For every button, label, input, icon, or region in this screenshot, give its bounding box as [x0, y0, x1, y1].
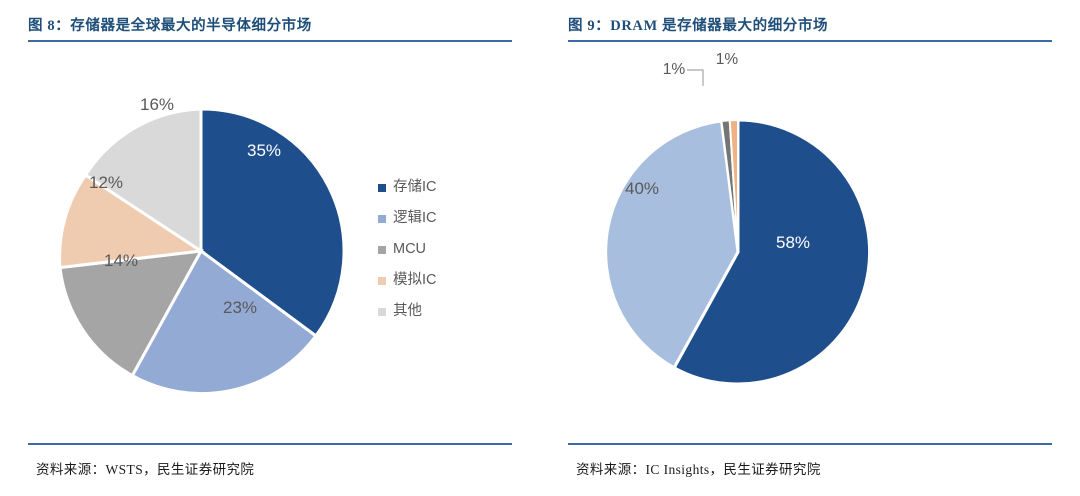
pie-label-1: 40%: [625, 179, 659, 198]
legend-item-luoji-ic[interactable]: 逻辑IC: [378, 203, 437, 234]
legend-label: 逻辑IC: [393, 211, 437, 226]
legend-swatch-icon: [378, 308, 386, 316]
legend-label: 其他: [393, 304, 422, 319]
legend-label: 存储IC: [393, 180, 437, 195]
figure-8-header: 图 8：存储器是全球最大的半导体细分市场: [28, 14, 512, 42]
leader-line-nor-flash: [687, 70, 703, 86]
figure-9-title: 图 9：DRAM 是存储器最大的细分市场: [568, 14, 1052, 40]
pie-label-4: 16%: [140, 95, 174, 114]
figure-9-title-rule: [568, 40, 1052, 42]
pie-label-2: 1%: [663, 61, 686, 78]
figure-8-title-rule: [28, 40, 512, 42]
figure-8-footer: 资料来源：WSTS，民生证券研究院: [28, 443, 512, 478]
legend-label: MCU: [393, 242, 426, 257]
legend-item-mcu[interactable]: MCU: [378, 234, 437, 265]
pie-label-0: 35%: [247, 141, 281, 160]
legend-label: 模拟IC: [393, 273, 437, 288]
figure-8-panel: 图 8：存储器是全球最大的半导体细分市场: [0, 0, 540, 496]
legend-item-cunchu-ic[interactable]: 存储IC: [378, 172, 437, 203]
pie-label-3: 1%: [716, 51, 739, 68]
legend-swatch-icon: [378, 246, 386, 254]
pie-slices-figure-9: [606, 120, 870, 384]
pie-label-0: 58%: [776, 233, 810, 252]
pie-label-1: 23%: [223, 298, 257, 317]
figure-9-source: 资料来源：IC Insights，民生证券研究院: [568, 458, 1052, 478]
legend-swatch-icon: [378, 184, 386, 192]
figure-8-legend: 存储IC 逻辑IC MCU 模拟IC 其他: [378, 172, 437, 327]
figure-9-footer-rule: [568, 443, 1052, 445]
pie-label-3: 12%: [89, 173, 123, 192]
pie-leader-lines-figure-9: [687, 70, 703, 86]
figure-8-title: 图 8：存储器是全球最大的半导体细分市场: [28, 14, 512, 40]
figure-8-pie-chart: 35% 23% 14% 12% 16%: [0, 48, 540, 428]
legend-swatch-icon: [378, 277, 386, 285]
legend-item-qita[interactable]: 其他: [378, 296, 437, 327]
legend-item-moni-ic[interactable]: 模拟IC: [378, 265, 437, 296]
figure-9-footer: 资料来源：IC Insights，民生证券研究院: [568, 443, 1052, 478]
pie-label-2: 14%: [104, 251, 138, 270]
figure-8-source: 资料来源：WSTS，民生证券研究院: [28, 458, 512, 478]
legend-swatch-icon: [378, 215, 386, 223]
figure-9-panel: 图 9：DRAM 是存储器最大的细分市场: [540, 0, 1080, 496]
figure-pair-page: 图 8：存储器是全球最大的半导体细分市场: [0, 0, 1080, 496]
pie-slices-figure-8: [60, 109, 344, 394]
figure-9-header: 图 9：DRAM 是存储器最大的细分市场: [568, 14, 1052, 42]
figure-9-pie-chart: 58% 40% 1% 1%: [540, 48, 1080, 428]
figure-8-footer-rule: [28, 443, 512, 445]
